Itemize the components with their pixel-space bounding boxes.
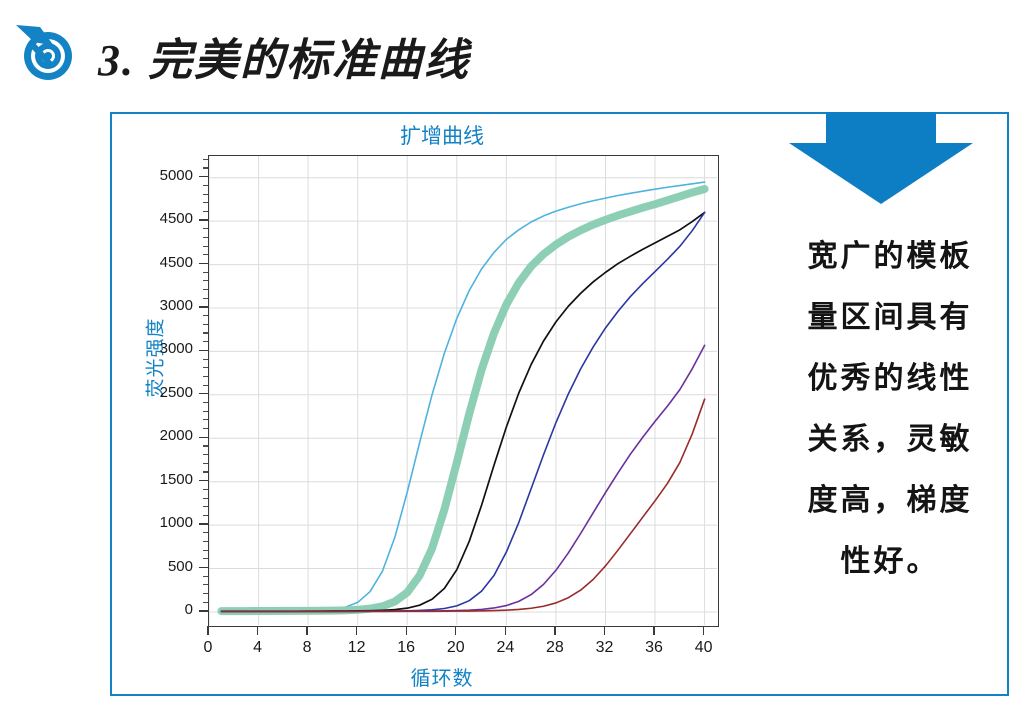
y-tick-label: 3000 (129, 340, 193, 357)
x-tick-mark (455, 626, 456, 635)
y-tick-mark (199, 393, 208, 394)
x-tick-mark (207, 626, 208, 635)
x-tick-label: 8 (287, 639, 327, 657)
y-tick-mark (199, 610, 208, 611)
y-tick-label: 2000 (129, 427, 193, 444)
x-tick-mark (306, 626, 307, 635)
chart-curves (209, 156, 717, 625)
x-tick-mark (356, 626, 357, 635)
y-tick-label: 4500 (129, 210, 193, 227)
x-tick-label: 4 (238, 639, 278, 657)
y-tick-label: 0 (129, 601, 193, 618)
x-tick-label: 40 (684, 639, 724, 657)
y-tick-mark (199, 176, 208, 177)
y-tick-label: 4500 (129, 254, 193, 271)
x-tick-mark (406, 626, 407, 635)
x-tick-mark (554, 626, 555, 635)
x-tick-label: 16 (386, 639, 426, 657)
description-line: 关系，灵敏 (772, 409, 1008, 470)
y-tick-label: 2500 (129, 384, 193, 401)
x-tick-mark (653, 626, 654, 635)
y-tick-mark (199, 437, 208, 438)
x-tick-mark (703, 626, 704, 635)
y-tick-mark (199, 567, 208, 568)
description-line: 量区间具有 (772, 287, 1008, 348)
target-dartboard-arrow-icon (14, 22, 86, 88)
slide-header: 3. 完美的标准曲线 (0, 0, 1027, 110)
description-line: 宽广的模板 (772, 226, 1008, 287)
y-tick-mark (199, 350, 208, 351)
amplification-chart: 扩增曲线 荧光强度 循环数 50004500450030003000250020… (112, 114, 772, 694)
x-tick-label: 28 (535, 639, 575, 657)
description-line: 性好。 (772, 531, 1008, 592)
y-tick-mark (199, 219, 208, 220)
chart-x-axis-label: 循环数 (112, 662, 772, 691)
y-tick-mark (199, 306, 208, 307)
description-text: 宽广的模板 量区间具有 优秀的线性 关系，灵敏 度高，梯度 性好。 (772, 226, 1008, 592)
x-tick-mark (505, 626, 506, 635)
content-frame: 扩增曲线 荧光强度 循环数 50004500450030003000250020… (110, 112, 1009, 696)
x-tick-label: 32 (585, 639, 625, 657)
y-tick-mark (199, 263, 208, 264)
y-tick-label: 5000 (129, 167, 193, 184)
x-tick-label: 24 (485, 639, 525, 657)
x-tick-label: 12 (337, 639, 377, 657)
chart-title: 扩增曲线 (112, 120, 772, 150)
x-tick-mark (604, 626, 605, 635)
y-tick-label: 500 (129, 558, 193, 575)
description-line: 优秀的线性 (772, 348, 1008, 409)
x-tick-label: 36 (634, 639, 674, 657)
x-tick-label: 0 (188, 639, 228, 657)
y-tick-label: 1500 (129, 471, 193, 488)
down-arrow-icon (788, 112, 1003, 207)
description-line: 度高，梯度 (772, 470, 1008, 531)
chart-plot-area (208, 155, 719, 627)
x-tick-label: 20 (436, 639, 476, 657)
y-tick-label: 1000 (129, 514, 193, 531)
y-tick-label: 3000 (129, 297, 193, 314)
y-tick-mark (199, 523, 208, 524)
page-title: 3. 完美的标准曲线 (98, 24, 470, 88)
x-tick-mark (257, 626, 258, 635)
y-tick-mark (199, 480, 208, 481)
